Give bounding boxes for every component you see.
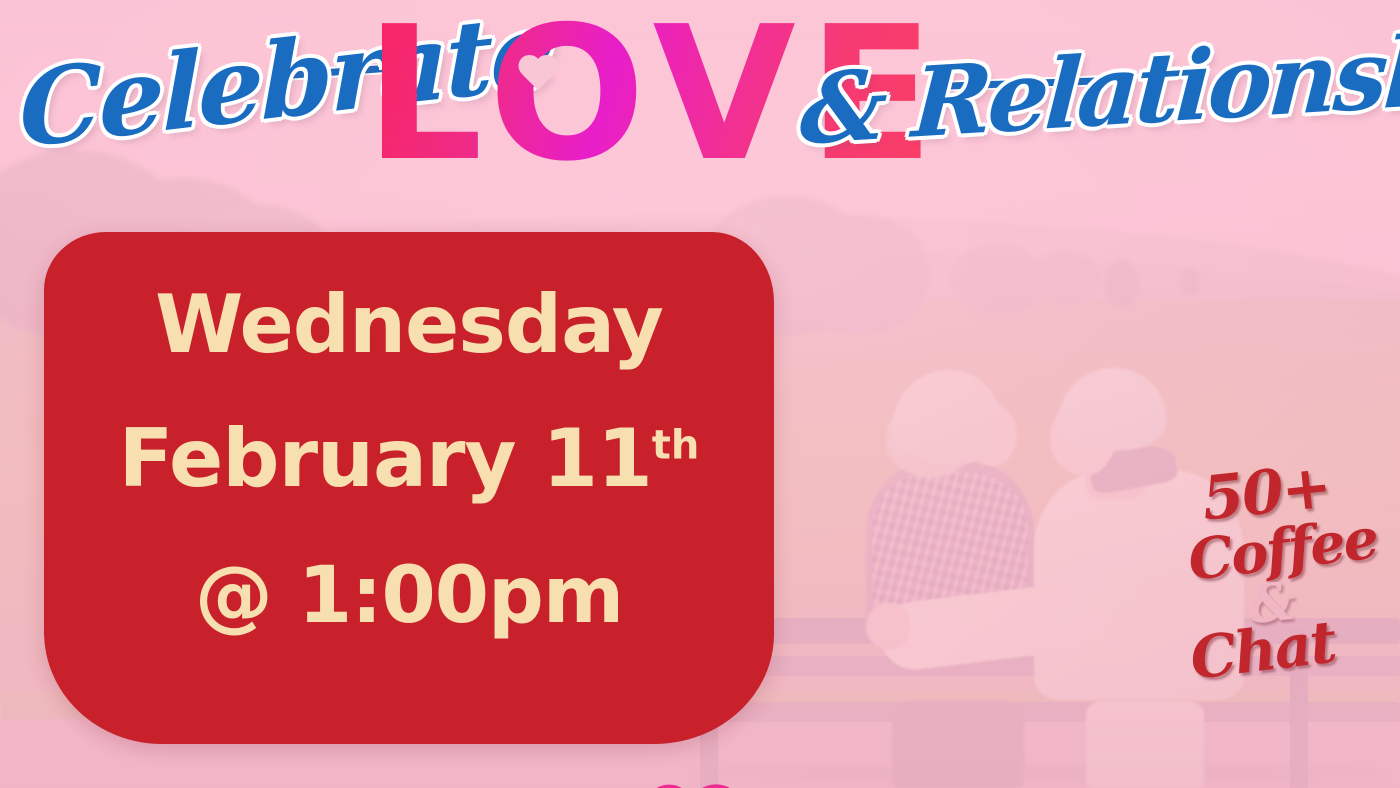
event-date-block: Wednesday February 11th @ 1:00pm [44, 284, 774, 637]
logo-line-chat: Chat [1187, 608, 1390, 687]
decorative-hearts-group [632, 760, 822, 788]
event-day-ordinal: th [652, 422, 700, 468]
event-month: February [119, 412, 516, 505]
poster-canvas: Celebrate LOVE & Relationships Wednesday… [0, 0, 1400, 788]
event-date-line: February 11th [44, 418, 774, 500]
headline-group: Celebrate LOVE & Relationships [0, 0, 1400, 190]
heart-cutout-icon [516, 56, 560, 96]
event-time: @ 1:00pm [44, 557, 774, 637]
event-day-of-week: Wednesday [44, 284, 774, 366]
event-detail-panel: Wednesday February 11th @ 1:00pm [44, 232, 774, 744]
event-day-number: 11 [542, 412, 651, 505]
coffee-and-chat-logo: 50+ Coffee & Chat [1192, 462, 1388, 752]
